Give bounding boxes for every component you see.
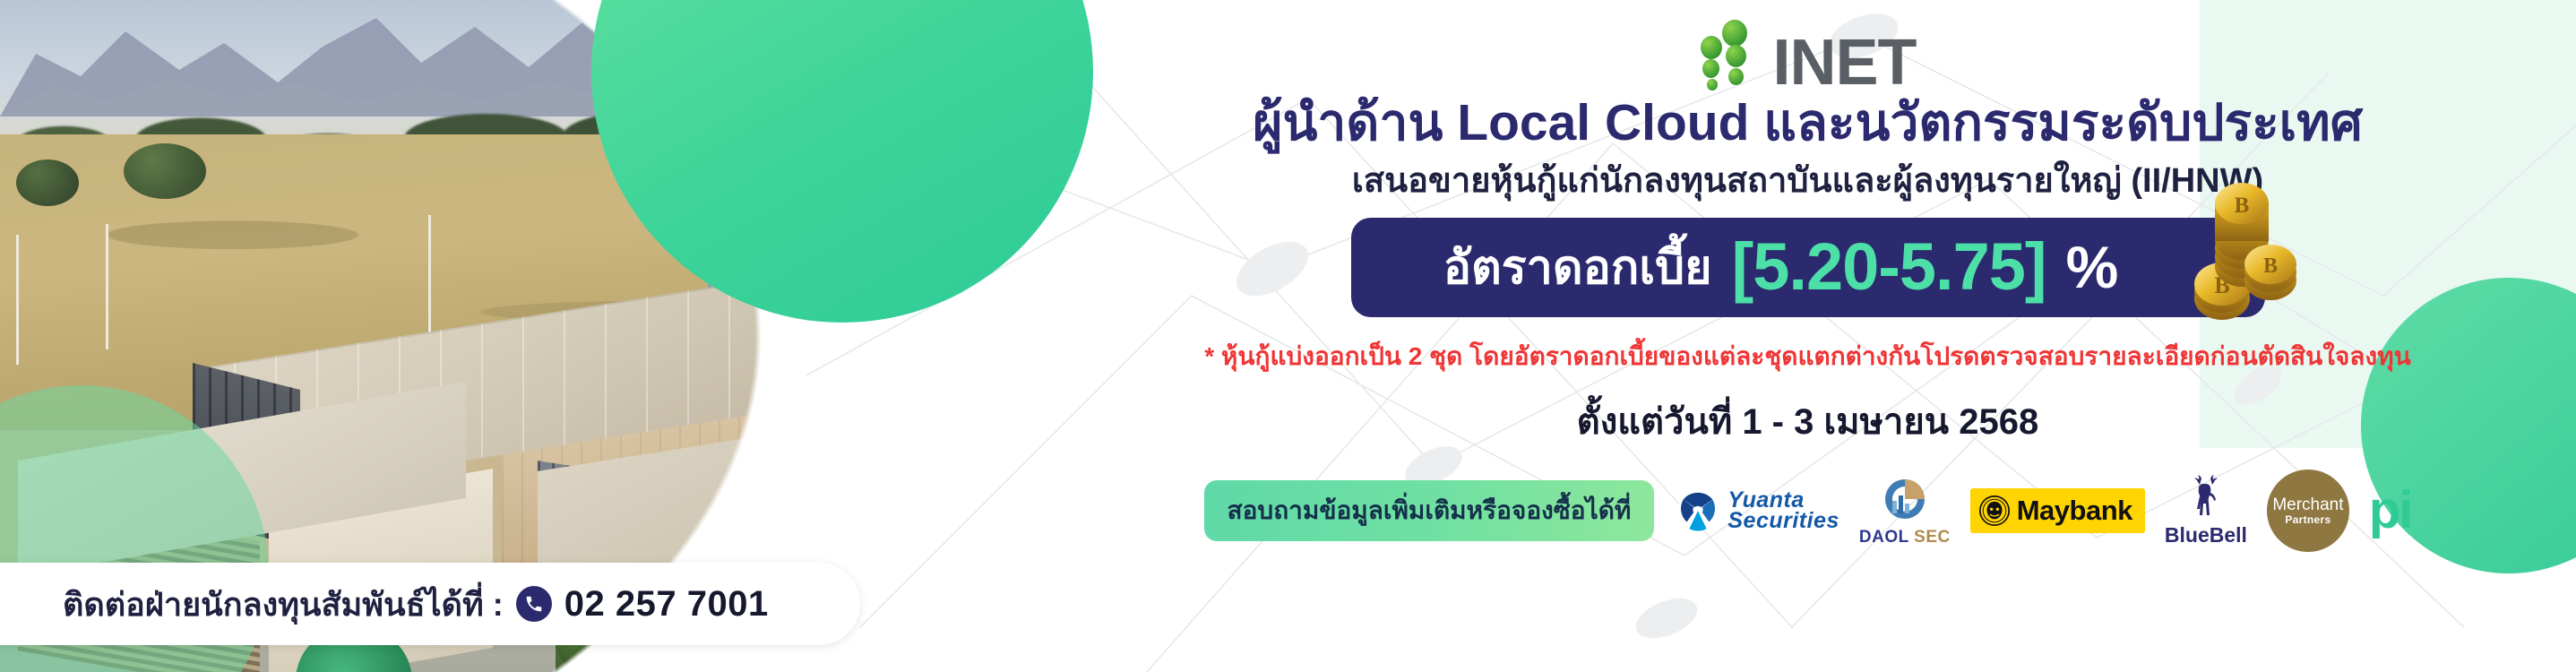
offer-disclaimer-note: * หุ้นกู้แบ่งออกเป็น 2 ชุด โดยอัตราดอกเบ…	[1204, 337, 2411, 376]
interest-rate-value: [5.20-5.75]	[1732, 228, 2046, 305]
partner-logo-list: Yuanta Securities DAOL SEC	[1677, 470, 2411, 552]
inet-bond-offering-banner: ติดต่อฝ่ายนักลงทุนสัมพันธ์ได้ที่ : 02 25…	[0, 0, 2576, 672]
yuanta-line2: Securities	[1727, 511, 1839, 532]
partner-logo-pi[interactable]: pi	[2369, 490, 2412, 531]
partner-logo-merchant-partners[interactable]: Merchant Partners	[2267, 470, 2349, 552]
yuanta-star-icon	[1677, 490, 1719, 531]
offer-content-column: INET ผู้นำด้าน Local Cloud และนวัตกรรมระ…	[1039, 0, 2576, 672]
pi-wordmark-icon: pi	[2369, 490, 2412, 531]
partner-logo-daol-sec[interactable]: DAOL SEC	[1859, 474, 1951, 547]
inet-wordmark: INET	[1772, 37, 1916, 90]
daol-pie-icon	[1878, 474, 1932, 524]
offer-date-range: ตั้งแต่วันที่ 1 - 3 เมษายน 2568	[1577, 392, 2038, 450]
merchant-line2: Partners	[2285, 513, 2330, 526]
bluebell-deer-icon	[2185, 475, 2227, 521]
page-subtitle: เสนอขายหุ้นกู้แก่นักลงทุนสถาบันและผู้ลงท…	[1352, 161, 2263, 202]
interest-rate-block: อัตราดอกเบี้ย [5.20-5.75] %	[1351, 218, 2265, 317]
partner-logo-bluebell[interactable]: BlueBell	[2165, 475, 2247, 547]
inet-logo: INET	[1699, 11, 1916, 90]
interest-rate-label: อัตราดอกเบี้ย	[1443, 229, 1712, 304]
contact-label: ติดต่อฝ่ายนักลงทุนสัมพันธ์ได้ที่ :	[63, 579, 504, 630]
svg-text:B: B	[2262, 254, 2277, 278]
daol-line1: DAOL	[1859, 528, 1908, 547]
investor-relations-contact-card: ติดต่อฝ่ายนักลงทุนสัมพันธ์ได้ที่ : 02 25…	[0, 563, 860, 645]
maybank-wordmark: Maybank	[2017, 495, 2132, 527]
maybank-tiger-icon	[1979, 495, 2010, 526]
contact-phone-number[interactable]: 02 257 7001	[564, 584, 769, 625]
interest-rate-box: อัตราดอกเบี้ย [5.20-5.75] %	[1351, 218, 2265, 317]
partner-logo-maybank[interactable]: Maybank	[1970, 488, 2145, 533]
bluebell-wordmark: BlueBell	[2165, 523, 2247, 547]
interest-rate-percent-sign: %	[2066, 233, 2119, 301]
partner-logo-yuanta[interactable]: Yuanta Securities	[1677, 490, 1839, 532]
merchant-line1: Merchant	[2272, 496, 2343, 513]
phone-icon	[516, 586, 552, 622]
page-title: ผู้นำด้าน Local Cloud และนวัตกรรมระดับปร…	[1253, 95, 2363, 152]
inet-dots-icon	[1699, 18, 1765, 90]
cta-and-partners-row: สอบถามข้อมูลเพิ่มเติมหรือจองซื้อได้ที่ Y…	[1204, 470, 2412, 552]
daol-line2: SEC	[1914, 528, 1951, 547]
contact-cta-button[interactable]: สอบถามข้อมูลเพิ่มเติมหรือจองซื้อได้ที่	[1204, 480, 1655, 541]
